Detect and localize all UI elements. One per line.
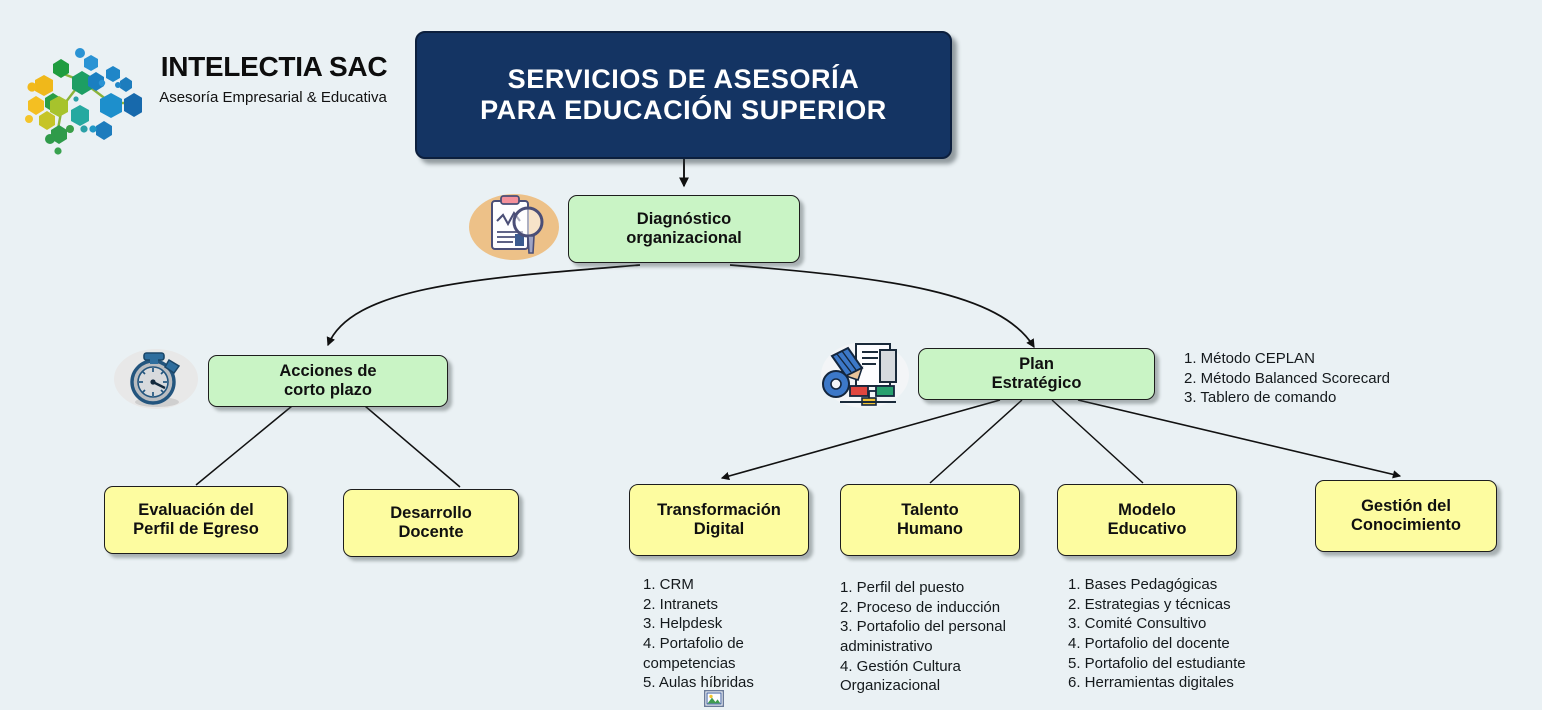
- node-gestion-conocimiento[interactable]: Gestión del Conocimiento: [1315, 480, 1497, 552]
- list-transformacion-digital-items: 1. CRM 2. Intranets 3. Helpdesk 4. Porta…: [643, 575, 808, 693]
- stopwatch-icon: [113, 346, 199, 412]
- node-desarrollo-docente[interactable]: Desarrollo Docente: [343, 489, 519, 557]
- edge-diagnostico-to-corto-plazo: [328, 265, 640, 345]
- list-talento-humano-items: 1. Perfil del puesto 2. Proceso de induc…: [840, 578, 1040, 696]
- node-modelo-educativo[interactable]: Modelo Educativo: [1057, 484, 1237, 556]
- page-title: SERVICIOS DE ASESORÍA PARA EDUCACIÓN SUP…: [415, 31, 952, 159]
- edge-plan-to-gestion: [1078, 400, 1400, 476]
- brain-network-hexagons-logo: [14, 33, 142, 158]
- broken-image-icon: [704, 690, 724, 707]
- diagram-canvas: INTELECTIA SAC Asesoría Empresarial & Ed…: [0, 0, 1542, 710]
- node-acciones-corto-plazo[interactable]: Acciones de corto plazo: [208, 355, 448, 407]
- edge-diagnostico-to-plan-estrategico: [730, 265, 1034, 347]
- node-diagnostico-organizacional[interactable]: Diagnóstico organizacional: [568, 195, 800, 263]
- strategic-planning-document-icon: [818, 338, 910, 410]
- node-plan-estrategico[interactable]: Plan Estratégico: [918, 348, 1155, 400]
- brand-name: INTELECTIA SAC: [145, 51, 403, 83]
- brand-tagline: Asesoría Empresarial & Educativa: [140, 89, 406, 106]
- edge-plan-to-transformacion: [722, 400, 1000, 478]
- edge-plan-to-modelo: [1052, 400, 1143, 483]
- list-plan-estrategico-methods: 1. Método CEPLAN 2. Método Balanced Scor…: [1184, 349, 1454, 408]
- edge-corto-plazo-to-desarrollo: [365, 406, 460, 487]
- brand-block: INTELECTIA SAC Asesoría Empresarial & Ed…: [14, 33, 404, 158]
- edge-plan-to-talento: [930, 400, 1022, 483]
- clipboard-magnifier-icon: [468, 191, 560, 263]
- node-evaluacion-perfil-egreso[interactable]: Evaluación del Perfil de Egreso: [104, 486, 288, 554]
- edge-corto-plazo-to-evaluacion: [196, 406, 292, 485]
- node-talento-humano[interactable]: Talento Humano: [840, 484, 1020, 556]
- node-transformacion-digital[interactable]: Transformación Digital: [629, 484, 809, 556]
- list-modelo-educativo-items: 1. Bases Pedagógicas 2. Estrategias y té…: [1068, 575, 1298, 693]
